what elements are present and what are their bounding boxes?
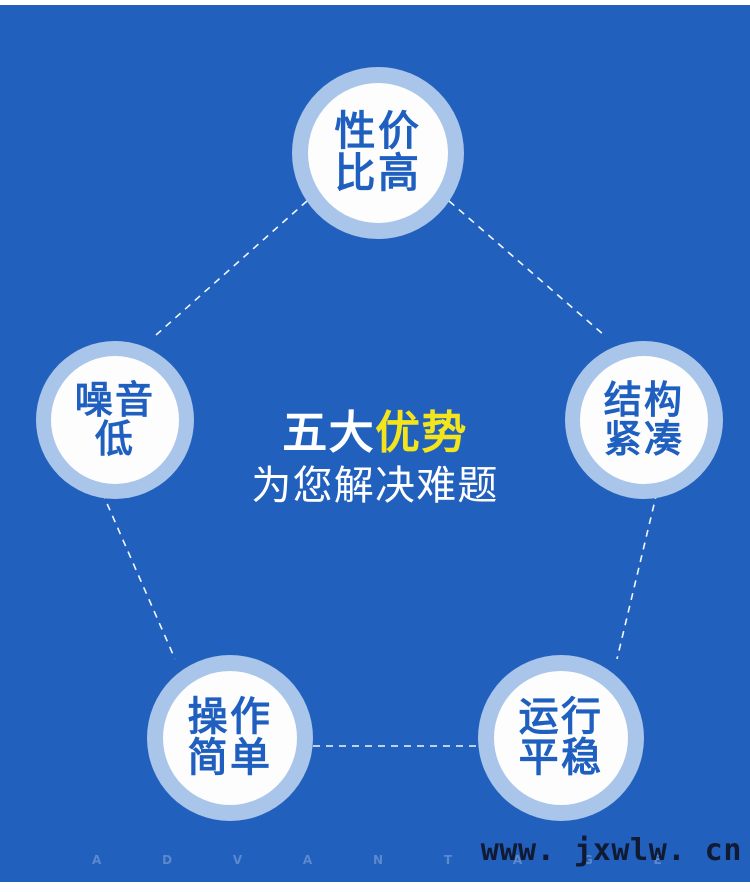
advantage-node-top-line1: 性价 [335,111,422,153]
advantage-node-bottom-right[interactable]: 运行 平稳 [478,655,644,821]
advantage-letter: N [373,853,383,867]
site-watermark: www. jxwlw. cn [481,833,742,868]
headline: 五大优势 [0,407,750,458]
subheadline: 为您解决难题 [0,464,750,510]
poster-canvas: 性价 比高 噪音 低 结构 紧凑 操作 简单 [0,5,750,882]
advantage-node-top-line2: 比高 [335,153,422,195]
center-headline-block: 五大优势 为您解决难题 [0,407,750,510]
advantage-letter: D [162,853,172,867]
headline-accent: 优势 [375,406,468,459]
advantage-letter: V [233,853,243,867]
advantage-letter: T [444,853,452,867]
advantage-node-top-inner: 性价 比高 [308,83,448,223]
advantage-node-bottom-left-inner: 操作 简单 [163,671,297,805]
advantage-node-bottom-left[interactable]: 操作 简单 [147,655,313,821]
advantage-node-top[interactable]: 性价 比高 [292,67,464,239]
advantage-node-bottom-left-line1: 操作 [188,697,273,738]
advantage-node-bottom-left-line2: 简单 [188,738,273,779]
advantage-letter: A [92,853,102,867]
advantage-node-bottom-right-line1: 运行 [519,697,604,738]
advantage-letter: A [303,853,313,867]
advantage-node-bottom-right-inner: 运行 平稳 [494,671,628,805]
headline-prefix: 五大 [282,406,375,459]
advantage-node-bottom-right-line2: 平稳 [519,738,604,779]
advantages-poster: 性价 比高 噪音 低 结构 紧凑 操作 简单 [0,0,750,892]
